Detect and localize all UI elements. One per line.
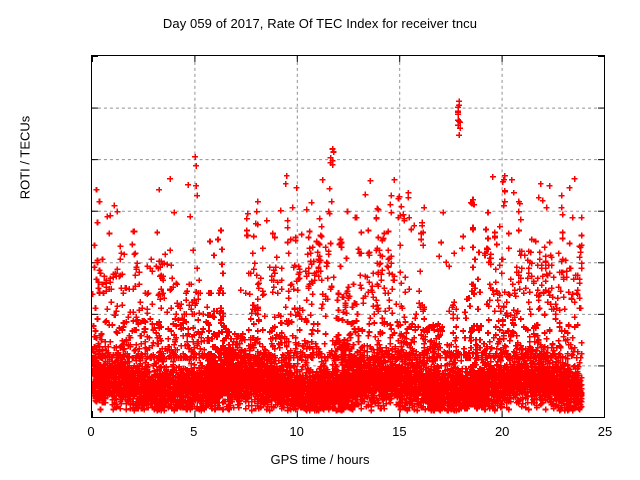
x-tick-label: 15 [379,424,419,439]
x-tick-label: 0 [71,424,111,439]
chart-screenshot: Day 059 of 2017, Rate Of TEC Index for r… [0,0,640,480]
x-tick-label: 20 [482,424,522,439]
y-axis-label: ROTI / TECUs [18,88,33,228]
x-tick-label: 25 [585,424,625,439]
x-tick-label: 5 [174,424,214,439]
x-axis-tick-labels: 0510152025 [0,0,640,480]
x-axis-label: GPS time / hours [0,452,640,467]
x-tick-label: 10 [277,424,317,439]
